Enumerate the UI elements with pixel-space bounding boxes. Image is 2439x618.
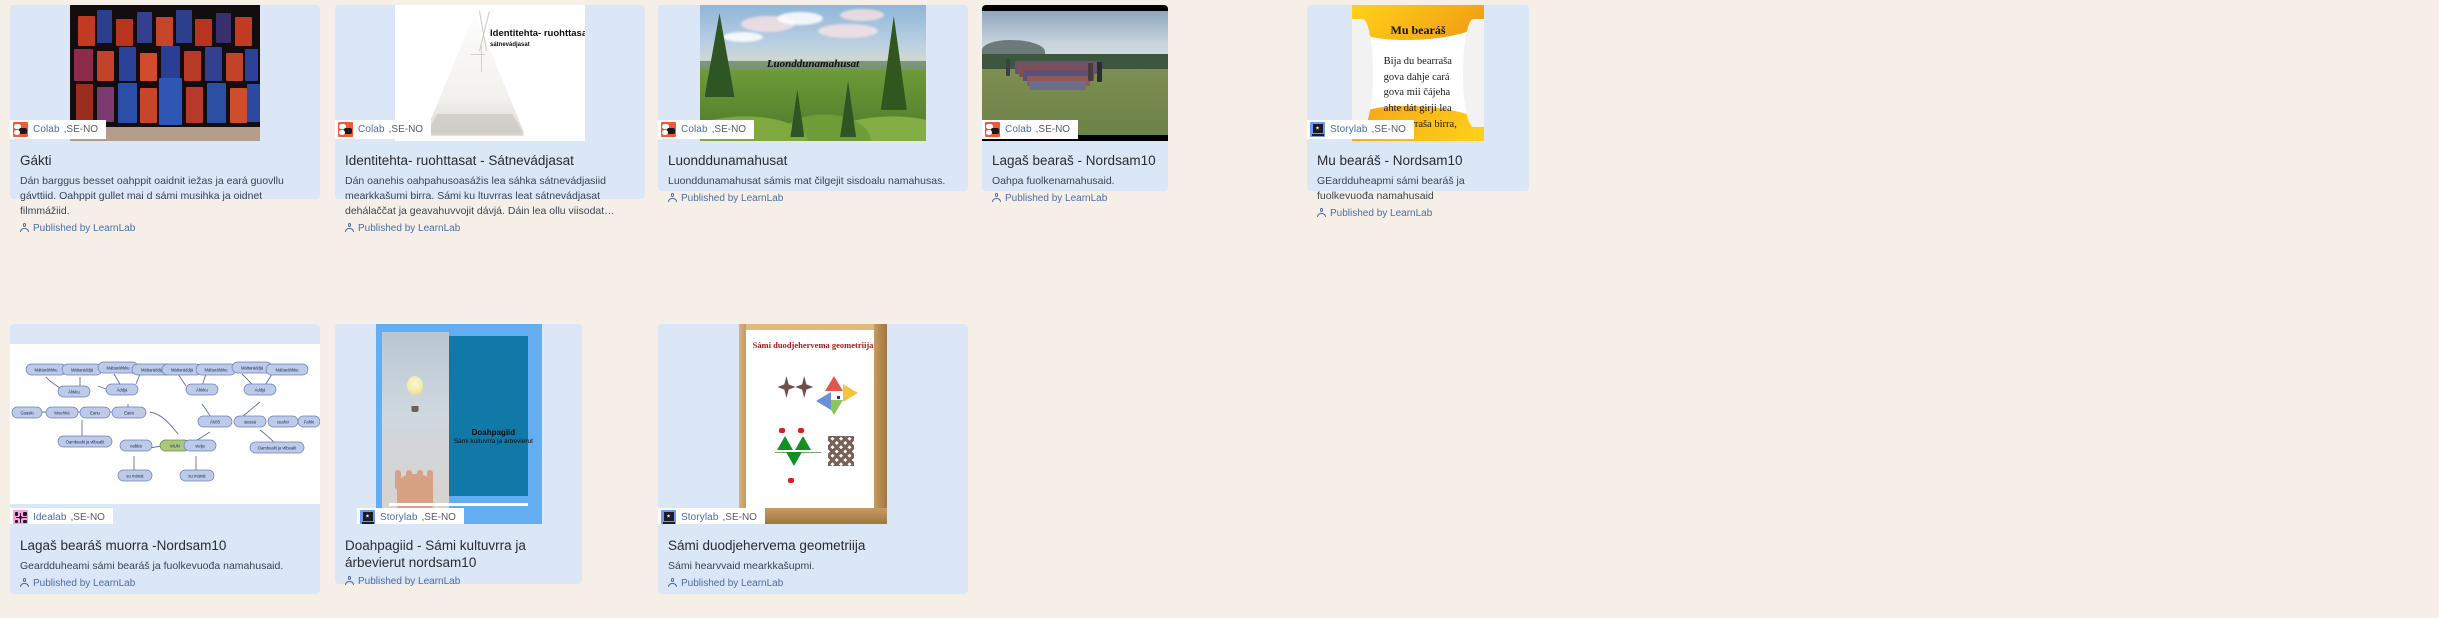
card-description: Sámi hearvvaid mearkkašupmi. bbox=[668, 559, 958, 574]
person-icon bbox=[1317, 208, 1326, 218]
source-name: Colab bbox=[1005, 124, 1032, 135]
card-footer: Published by LearnLab bbox=[345, 223, 635, 234]
svg-text:Oambealit ja vilbealit: Oambealit ja vilbealit bbox=[66, 440, 105, 445]
svg-text:Máttaráddjá: Máttaráddjá bbox=[71, 368, 94, 373]
card-thumbnail: Identitehta- ruohttasat sátnevádjasat Co… bbox=[335, 5, 645, 141]
source-name: Idealab bbox=[33, 512, 67, 523]
svg-text:Máttaráhkku: Máttaráhkku bbox=[275, 368, 299, 373]
card-footer: Published by LearnLab bbox=[20, 578, 310, 589]
source-badge[interactable]: Colab ,SE-NO bbox=[658, 120, 754, 139]
source-name: Storylab bbox=[1330, 124, 1368, 135]
person-icon bbox=[345, 223, 354, 233]
card-thumbnail: Máttaráhkku Máttaráddjá Máttaráhkku Mátt… bbox=[10, 324, 320, 524]
colab-icon bbox=[13, 122, 28, 137]
published-by-label: Published by LearnLab bbox=[1330, 208, 1432, 219]
source-badge[interactable]: Storylab ,SE-NO bbox=[357, 508, 464, 524]
slide-title: Doahpagiid bbox=[452, 428, 535, 437]
published-by-label: Published by LearnLab bbox=[358, 223, 460, 234]
card-thumbnail: Colab ,SE-NO bbox=[10, 5, 320, 141]
card-footer: Published by LearnLab bbox=[992, 193, 1158, 204]
content-card-gakti[interactable]: Colab ,SE-NO Gákti Dán barggus besset oa… bbox=[10, 5, 320, 199]
card-title[interactable]: Gákti bbox=[20, 153, 310, 170]
source-region: ,SE-NO bbox=[1036, 124, 1070, 135]
source-region: ,SE-NO bbox=[71, 512, 105, 523]
colab-icon bbox=[338, 122, 353, 137]
content-card-lagas-bearas[interactable]: Colab ,SE-NO Lagaš bearaš - Nordsam10 Oa… bbox=[982, 5, 1168, 191]
source-region: ,SE-NO bbox=[723, 512, 757, 523]
svg-text:ceahci: ceahci bbox=[277, 420, 289, 425]
svg-text:su mánát: su mánát bbox=[188, 474, 206, 479]
card-body: Lagaš bearaš - Nordsam10 Oahpa fuolkenam… bbox=[982, 141, 1168, 218]
card-body: Mu bearáš - Nordsam10 GEardduheapmi sámi… bbox=[1307, 141, 1529, 233]
svg-text:oabbá: oabbá bbox=[130, 444, 142, 449]
svg-text:Máttaráhkku: Máttaráhkku bbox=[106, 366, 130, 371]
svg-text:siessá: siessá bbox=[244, 420, 257, 425]
person-icon bbox=[20, 223, 29, 233]
content-card-grid: Colab ,SE-NO Gákti Dán barggus besset oa… bbox=[0, 0, 2439, 618]
card-body: Luonddunamahusat Luonddunamahusat sámis … bbox=[658, 141, 968, 218]
svg-text:Fahki: Fahki bbox=[304, 420, 314, 425]
svg-text:Máttaráddjá: Máttaráddjá bbox=[171, 368, 194, 373]
source-region: ,SE-NO bbox=[64, 124, 98, 135]
card-title[interactable]: Sámi duodjehervema geometriija bbox=[668, 538, 958, 555]
published-by-label: Published by LearnLab bbox=[33, 223, 135, 234]
published-by-label: Published by LearnLab bbox=[681, 193, 783, 204]
card-footer: Published by LearnLab bbox=[1317, 208, 1519, 219]
person-icon bbox=[992, 193, 1001, 203]
mindmap-svg: Máttaráhkku Máttaráddjá Máttaráhkku Mátt… bbox=[10, 324, 320, 524]
card-title[interactable]: Mu bearáš - Nordsam10 bbox=[1317, 153, 1519, 170]
person-icon bbox=[345, 576, 354, 586]
svg-text:Máttaráddjá: Máttaráddjá bbox=[241, 366, 264, 371]
content-card-mu-bearas[interactable]: Mu bearáš Bija du bearraša gova dahje ca… bbox=[1307, 5, 1529, 191]
svg-text:Áhčči: Áhčči bbox=[210, 420, 220, 425]
card-title[interactable]: Lagaš bearáš muorra -Nordsam10 bbox=[20, 538, 310, 555]
poster-title: Sámi duodjehervema geometriija bbox=[753, 340, 874, 351]
card-body: Identitehta- ruohttasat - Sátnevádjasat … bbox=[335, 141, 645, 248]
svg-text:su mánát: su mánát bbox=[126, 474, 144, 479]
svg-text:Áhkku: Áhkku bbox=[196, 388, 208, 393]
colab-icon bbox=[661, 122, 676, 137]
card-thumbnail: Colab ,SE-NO bbox=[982, 5, 1168, 141]
person-icon bbox=[668, 578, 677, 588]
card-title[interactable]: Identitehta- ruohttasat - Sátnevádjasat bbox=[345, 153, 635, 170]
card-description: Luonddunamahusat sámis mat čilgejit sisd… bbox=[668, 174, 958, 189]
duodji-poster-art: Sámi duodjehervema geometriija bbox=[739, 324, 887, 524]
cover-title: Mu bearáš bbox=[1391, 23, 1446, 38]
svg-text:Áhkku: Áhkku bbox=[68, 390, 80, 395]
card-thumbnail: Doahpagiid Sámi kultuvrra ja árbevierut … bbox=[335, 324, 582, 524]
thumbnail-overlay-title: Luonddunamahusat bbox=[767, 58, 859, 70]
svg-text:MUN: MUN bbox=[170, 444, 180, 449]
svg-text:Eanu: Eanu bbox=[90, 411, 100, 416]
svg-text:Áddjá: Áddjá bbox=[117, 388, 128, 393]
source-name: Storylab bbox=[380, 512, 418, 523]
source-badge[interactable]: Colab ,SE-NO bbox=[335, 120, 431, 139]
svg-text:Máttaráddjá: Máttaráddjá bbox=[141, 368, 164, 373]
source-region: ,SE-NO bbox=[389, 124, 423, 135]
card-footer: Published by LearnLab bbox=[668, 193, 958, 204]
card-description: Dán barggus besset oahppit oaidnit iežas… bbox=[20, 174, 310, 219]
card-description: Geardduheami sámi bearáš ja fuolkevuođa … bbox=[20, 559, 310, 574]
card-body: Lagaš bearáš muorra -Nordsam10 Geardduhe… bbox=[10, 524, 320, 603]
storylab-icon bbox=[1310, 122, 1325, 137]
family-tree-mindmap-art: Máttaráhkku Máttaráddjá Máttaráhkku Mátt… bbox=[10, 324, 320, 524]
svg-text:Muehhá: Muehhá bbox=[54, 411, 70, 416]
card-title[interactable]: Doahpagiid - Sámi kultuvrra ja árbevieru… bbox=[345, 538, 572, 572]
card-thumbnail: Sámi duodjehervema geometriija bbox=[658, 324, 968, 524]
person-icon bbox=[20, 578, 29, 588]
card-thumbnail: Mu bearáš Bija du bearraša gova dahje ca… bbox=[1307, 5, 1529, 141]
content-card-duodjehervema[interactable]: Sámi duodjehervema geometriija bbox=[658, 324, 968, 594]
source-badge[interactable]: Colab ,SE-NO bbox=[982, 120, 1078, 139]
published-by-label: Published by LearnLab bbox=[33, 578, 135, 589]
idealab-icon bbox=[13, 510, 28, 524]
storylab-icon bbox=[661, 510, 676, 524]
card-footer: Published by LearnLab bbox=[20, 223, 310, 234]
svg-text:Eatni: Eatni bbox=[124, 411, 134, 416]
card-description: Oahpa fuolkenamahusaid. bbox=[992, 174, 1158, 189]
source-name: Colab bbox=[33, 124, 60, 135]
slide-subtitle: Sámi kultuvrra ja árbevierut bbox=[452, 437, 535, 447]
card-title[interactable]: Luonddunamahusat bbox=[668, 153, 958, 170]
slide-subtitle: sátnevádjasat bbox=[490, 42, 530, 48]
person-icon bbox=[668, 193, 677, 203]
card-body: Doahpagiid - Sámi kultuvrra ja árbevieru… bbox=[335, 524, 582, 601]
card-description: Dán oanehis oahpahusoasážis lea sáhka sá… bbox=[345, 174, 635, 219]
content-card-luonddunamahusat[interactable]: Luonddunamahusat Colab ,SE-NO Luonddunam… bbox=[658, 5, 968, 191]
card-footer: Published by LearnLab bbox=[345, 576, 572, 587]
slide-title: Identitehta- ruohttasat bbox=[490, 28, 585, 39]
source-name: Colab bbox=[358, 124, 385, 135]
card-body: Sámi duodjehervema geometriija Sámi hear… bbox=[658, 524, 968, 603]
colab-icon bbox=[985, 122, 1000, 137]
card-description: GEardduheapmi sámi bearáš ja fuolkevuođa… bbox=[1317, 174, 1519, 204]
storylab-icon bbox=[360, 510, 375, 524]
svg-text:vielja: vielja bbox=[195, 444, 205, 449]
source-region: ,SE-NO bbox=[1372, 124, 1406, 135]
svg-text:Máttaráhkku: Máttaráhkku bbox=[204, 368, 228, 373]
source-name: Colab bbox=[681, 124, 708, 135]
svg-text:Áddjá: Áddjá bbox=[255, 388, 266, 393]
svg-text:Máttaráhkku: Máttaráhkku bbox=[34, 368, 58, 373]
published-by-label: Published by LearnLab bbox=[358, 576, 460, 587]
card-body: Gákti Dán barggus besset oahppit oaidnit… bbox=[10, 141, 320, 248]
svg-text:Goaski: Goaski bbox=[20, 411, 33, 416]
lightbulb-slide-art: Doahpagiid Sámi kultuvrra ja árbevierut bbox=[376, 324, 542, 524]
card-footer: Published by LearnLab bbox=[668, 578, 958, 589]
content-card-lagas-bearas-muorra[interactable]: Máttaráhkku Máttaráddjá Máttaráhkku Mátt… bbox=[10, 324, 320, 594]
published-by-label: Published by LearnLab bbox=[681, 578, 783, 589]
content-card-identitehta[interactable]: Identitehta- ruohttasat sátnevádjasat Co… bbox=[335, 5, 645, 199]
source-badge[interactable]: Idealab ,SE-NO bbox=[10, 508, 113, 524]
card-title[interactable]: Lagaš bearaš - Nordsam10 bbox=[992, 153, 1158, 170]
source-badge[interactable]: Storylab ,SE-NO bbox=[1307, 120, 1414, 139]
svg-text:Oambealit ja vilbealit: Oambealit ja vilbealit bbox=[258, 446, 297, 451]
source-region: ,SE-NO bbox=[712, 124, 746, 135]
source-region: ,SE-NO bbox=[422, 512, 456, 523]
source-badge[interactable]: Storylab ,SE-NO bbox=[658, 508, 765, 524]
published-by-label: Published by LearnLab bbox=[1005, 193, 1107, 204]
content-card-doahpagiid[interactable]: Doahpagiid Sámi kultuvrra ja árbevierut … bbox=[335, 324, 582, 584]
source-badge[interactable]: Colab ,SE-NO bbox=[10, 120, 106, 139]
source-name: Storylab bbox=[681, 512, 719, 523]
card-thumbnail: Luonddunamahusat Colab ,SE-NO bbox=[658, 5, 968, 141]
